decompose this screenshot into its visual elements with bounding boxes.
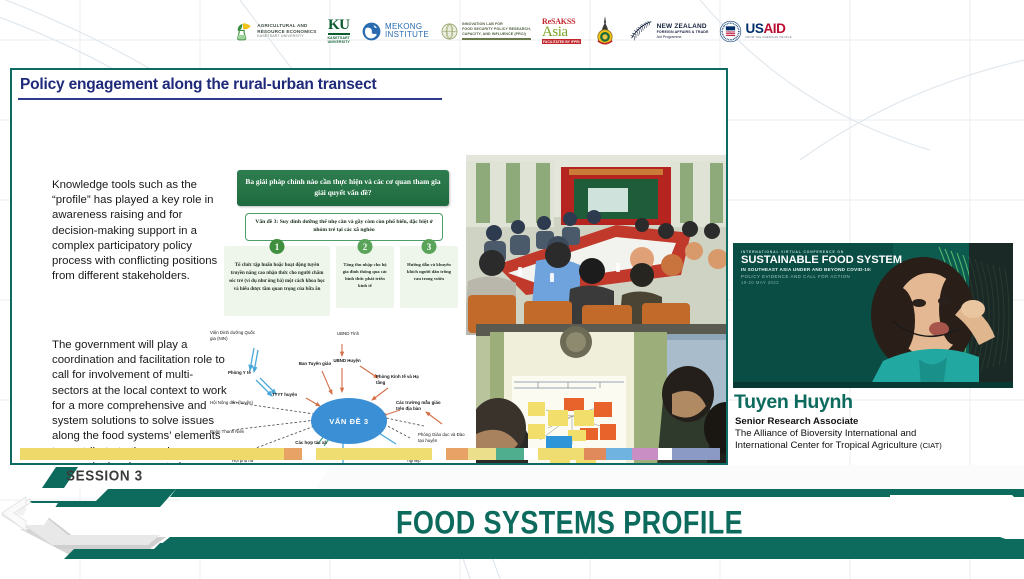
speaker-video[interactable]: INTERNATIONAL VIRTUAL CONFERENCE ON SUST… <box>733 243 1013 388</box>
speaker-org-line2: International Center for Tropical Agricu… <box>735 440 942 451</box>
session-label: SESSION 3 <box>66 467 143 484</box>
video-bg-line1: SUSTAINABLE FOOD SYSTEM <box>741 254 902 267</box>
silver-fern-icon <box>629 20 654 42</box>
logo-mekong-institute: MEKONG INSTITUTE <box>361 21 429 42</box>
logo-new-zealand-mfat: NEW ZEALAND FOREIGN AFFAIRS & TRADE Aid … <box>629 20 709 42</box>
diagram-node-phong-giao-duc: Phòng Giáo dục và Đào tạo huyện <box>418 432 466 444</box>
question-banner-text: Ba giải pháp chính nào cần thực hiện và … <box>237 177 449 198</box>
slide-paragraph-1: Knowledge tools such as the “profile” ha… <box>52 178 228 285</box>
speaker-role: Senior Research Associate <box>735 416 858 427</box>
question-banner: Ba giải pháp chính nào cần thực hiện và … <box>237 170 449 206</box>
diagram-node-ban-tuyen-giao: Ban Tuyên giáo <box>298 361 332 367</box>
logo-nz-line3: Aid Programme <box>657 35 709 39</box>
video-bg-line3: POLICY EVIDENCE AND CALL FOR ACTION <box>741 274 902 281</box>
logo-resakss-asia: ReSAKSS Asia FACILITATED BY IFPRI <box>542 18 581 45</box>
banner-title: FOOD SYSTEMS PROFILE <box>396 505 743 542</box>
solution-card-2-number: 2 <box>358 239 373 254</box>
sponsor-logo-bar: AGRICULTURAL AND RESOURCE ECONOMICS KASE… <box>0 0 1024 62</box>
slide-paragraph-2: The government will play a coordination … <box>52 338 228 465</box>
photo-workshop: Bioversity International <box>476 324 728 465</box>
solution-card-1-number: 1 <box>270 239 285 254</box>
globe-icon <box>361 21 382 42</box>
logo-line3: KASETSART UNIVERSITY <box>257 34 316 38</box>
speaker-org-line1: The Alliance of Bioversity International… <box>735 428 916 439</box>
video-bg-line4: 19-20 MAY 2022 <box>741 280 902 286</box>
slide-title: Policy engagement along the rural-urban … <box>20 76 440 94</box>
logo-resakss-line2: Asia <box>542 26 581 40</box>
issue-box: Vấn đề 3: Suy dinh dưỡng thể nhẹ cân và … <box>245 213 443 241</box>
solution-card-2: 2 Tăng thu nhập cho hộ gia đình thông qu… <box>336 246 394 308</box>
stakeholder-network-diagram: VẤN ĐỀ 3 Viện Dinh dưỡng Quốc gia (NIN) … <box>210 326 472 465</box>
diagram-node-doan-thanh-nien: Đoàn Thanh Niên <box>210 429 250 435</box>
solution-card-3-number: 3 <box>422 239 437 254</box>
logo-ku-abbr: KU <box>328 18 351 32</box>
solution-card-1: 1 Tổ chức tập huấn hoặc hoạt động tuyên … <box>224 246 330 316</box>
presentation-slide[interactable]: Policy engagement along the rural-urban … <box>10 68 728 465</box>
solution-card-3: 3 Hướng dẫn và khuyến khích người dân tr… <box>400 246 458 308</box>
logo-usaid-tagline: FROM THE AMERICAN PEOPLE <box>745 36 791 39</box>
logo-usaid: USAID FROM THE AMERICAN PEOPLE <box>719 20 791 43</box>
logo-prci-rule <box>462 38 531 40</box>
diagram-node-cac-hop-tac-xa: Các hợp tác xã <box>294 440 328 446</box>
diagram-center-node: VẤN ĐỀ 3 <box>311 398 387 444</box>
logo-royal-thai-government-seal <box>592 16 618 46</box>
diagram-node-hoi-nong-dan: Hội Nông dân (huyện) <box>210 400 254 406</box>
logo-mekong-line2: INSTITUTE <box>385 31 429 39</box>
logo-resakss-line3: FACILITATED BY IFPRI <box>542 39 581 44</box>
diagram-arrows <box>210 326 472 465</box>
logo-prci-line2: CAPACITY, AND INFLUENCE (PRCI) <box>462 32 531 37</box>
logo-usaid-us: US <box>745 21 763 36</box>
slide-title-underline <box>18 98 442 100</box>
solution-card-2-text: Tăng thu nhập cho hộ gia đình thông qua … <box>341 262 389 290</box>
logo-kasetsart-university: KU KASETSART UNIVERSITY <box>328 18 351 45</box>
speaker-org-line2-text: International Center for Tropical Agricu… <box>735 440 917 451</box>
leaf-beaker-icon <box>232 20 254 42</box>
government-seal-icon <box>592 16 618 46</box>
video-bg-line2: IN SOUTHEAST ASIA UNDER AND BEYOND COVID… <box>741 267 902 274</box>
diagram-node-phong-kinh-te: Phòng Kinh tế và Hạ tầng <box>376 374 426 386</box>
diagram-node-phong-y-te: Phòng Y tế <box>228 370 268 376</box>
usaid-seal-icon <box>719 20 742 43</box>
solution-cards: 1 Tổ chức tập huấn hoặc hoạt động tuyên … <box>224 246 462 322</box>
diagram-node-cac-truong-mau-giao: Các trường mẫu giáo trên địa bàn <box>396 400 444 412</box>
speaker-panel: INTERNATIONAL VIRTUAL CONFERENCE ON SUST… <box>733 243 1013 460</box>
diagram-node-nin: Viện Dinh dưỡng Quốc gia (NIN) <box>210 330 262 342</box>
wheat-globe-icon <box>440 22 459 41</box>
logo-nz-line2: FOREIGN AFFAIRS & TRADE <box>657 30 709 34</box>
diagram-node-ttyt-huyen: TTYT huyện <box>272 392 310 398</box>
diagram-node-ubnd-tinh: UBND Tỉnh <box>326 331 370 337</box>
solution-card-3-text: Hướng dẫn và khuyến khích người dân trồn… <box>405 262 453 283</box>
logo-agricultural-resource-economics: AGRICULTURAL AND RESOURCE ECONOMICS KASE… <box>232 20 316 42</box>
logo-usaid-aid: AID <box>763 21 785 36</box>
logo-prci-innovation-lab: INNOVATION LAB FOR FOOD SECURITY POLICY … <box>440 22 531 41</box>
logo-nz-line1: NEW ZEALAND <box>657 23 709 30</box>
logo-ku-line2: UNIVERSITY <box>328 40 351 44</box>
logo-ku-rule <box>328 33 351 35</box>
photo-meeting-illustration <box>466 155 728 335</box>
photo-workshop-illustration: Bioversity International <box>476 324 728 465</box>
photo-meeting <box>466 155 728 335</box>
diagram-node-ubnd-huyen: UBND Huyện <box>330 358 364 364</box>
video-background-title: INTERNATIONAL VIRTUAL CONFERENCE ON SUST… <box>741 250 902 287</box>
speaker-org-acronym: (CIAT) <box>920 441 942 450</box>
diagram-center-label: VẤN ĐỀ 3 <box>329 417 368 426</box>
issue-box-text: Vấn đề 3: Suy dinh dưỡng thể nhẹ cân và … <box>246 219 442 235</box>
speaker-name: Tuyen Huynh <box>734 391 853 414</box>
solution-card-1-text: Tổ chức tập huấn hoặc hoạt động tuyên tr… <box>229 262 325 294</box>
